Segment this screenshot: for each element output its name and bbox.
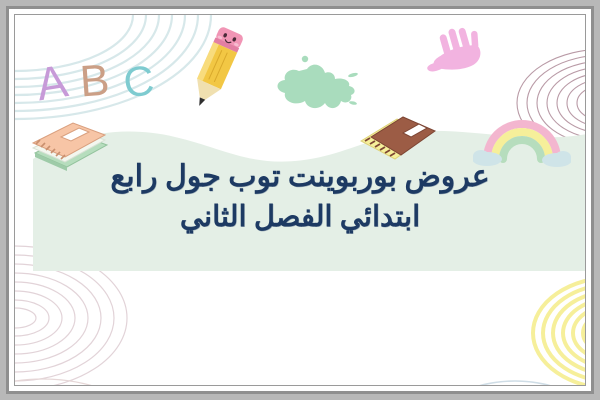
arcs-lower-left-icon <box>15 243 133 385</box>
slide-mid-frame: A B C <box>6 6 594 394</box>
slide-inner-white-frame: A B C <box>9 9 591 391</box>
arcs-top-left-icon <box>15 15 227 153</box>
arcs-right-yellow-icon <box>517 273 585 385</box>
svg-text:A: A <box>37 55 71 107</box>
slide-hairline-frame: A B C <box>14 14 586 386</box>
handprint-icon <box>423 27 493 83</box>
arcs-bottom-blue-icon <box>435 367 585 385</box>
svg-text:B: B <box>78 56 111 107</box>
slide-outer-frame: A B C <box>0 0 600 400</box>
paint-splat-icon <box>273 53 359 119</box>
arcs-bottom-left-icon <box>15 355 165 385</box>
abc-letters-icon: A B C <box>37 55 177 107</box>
slide-canvas: A B C <box>15 15 585 385</box>
title-line-2: ابتدائي الفصل الثاني <box>15 197 585 237</box>
pencil-icon <box>183 25 247 111</box>
title-line-1: عروض بوربوينت توب جول رابع <box>15 157 585 197</box>
svg-text:C: C <box>121 56 156 106</box>
arcs-right-mauve-icon <box>513 43 585 163</box>
slide-title: عروض بوربوينت توب جول رابع ابتدائي الفصل… <box>15 157 585 237</box>
